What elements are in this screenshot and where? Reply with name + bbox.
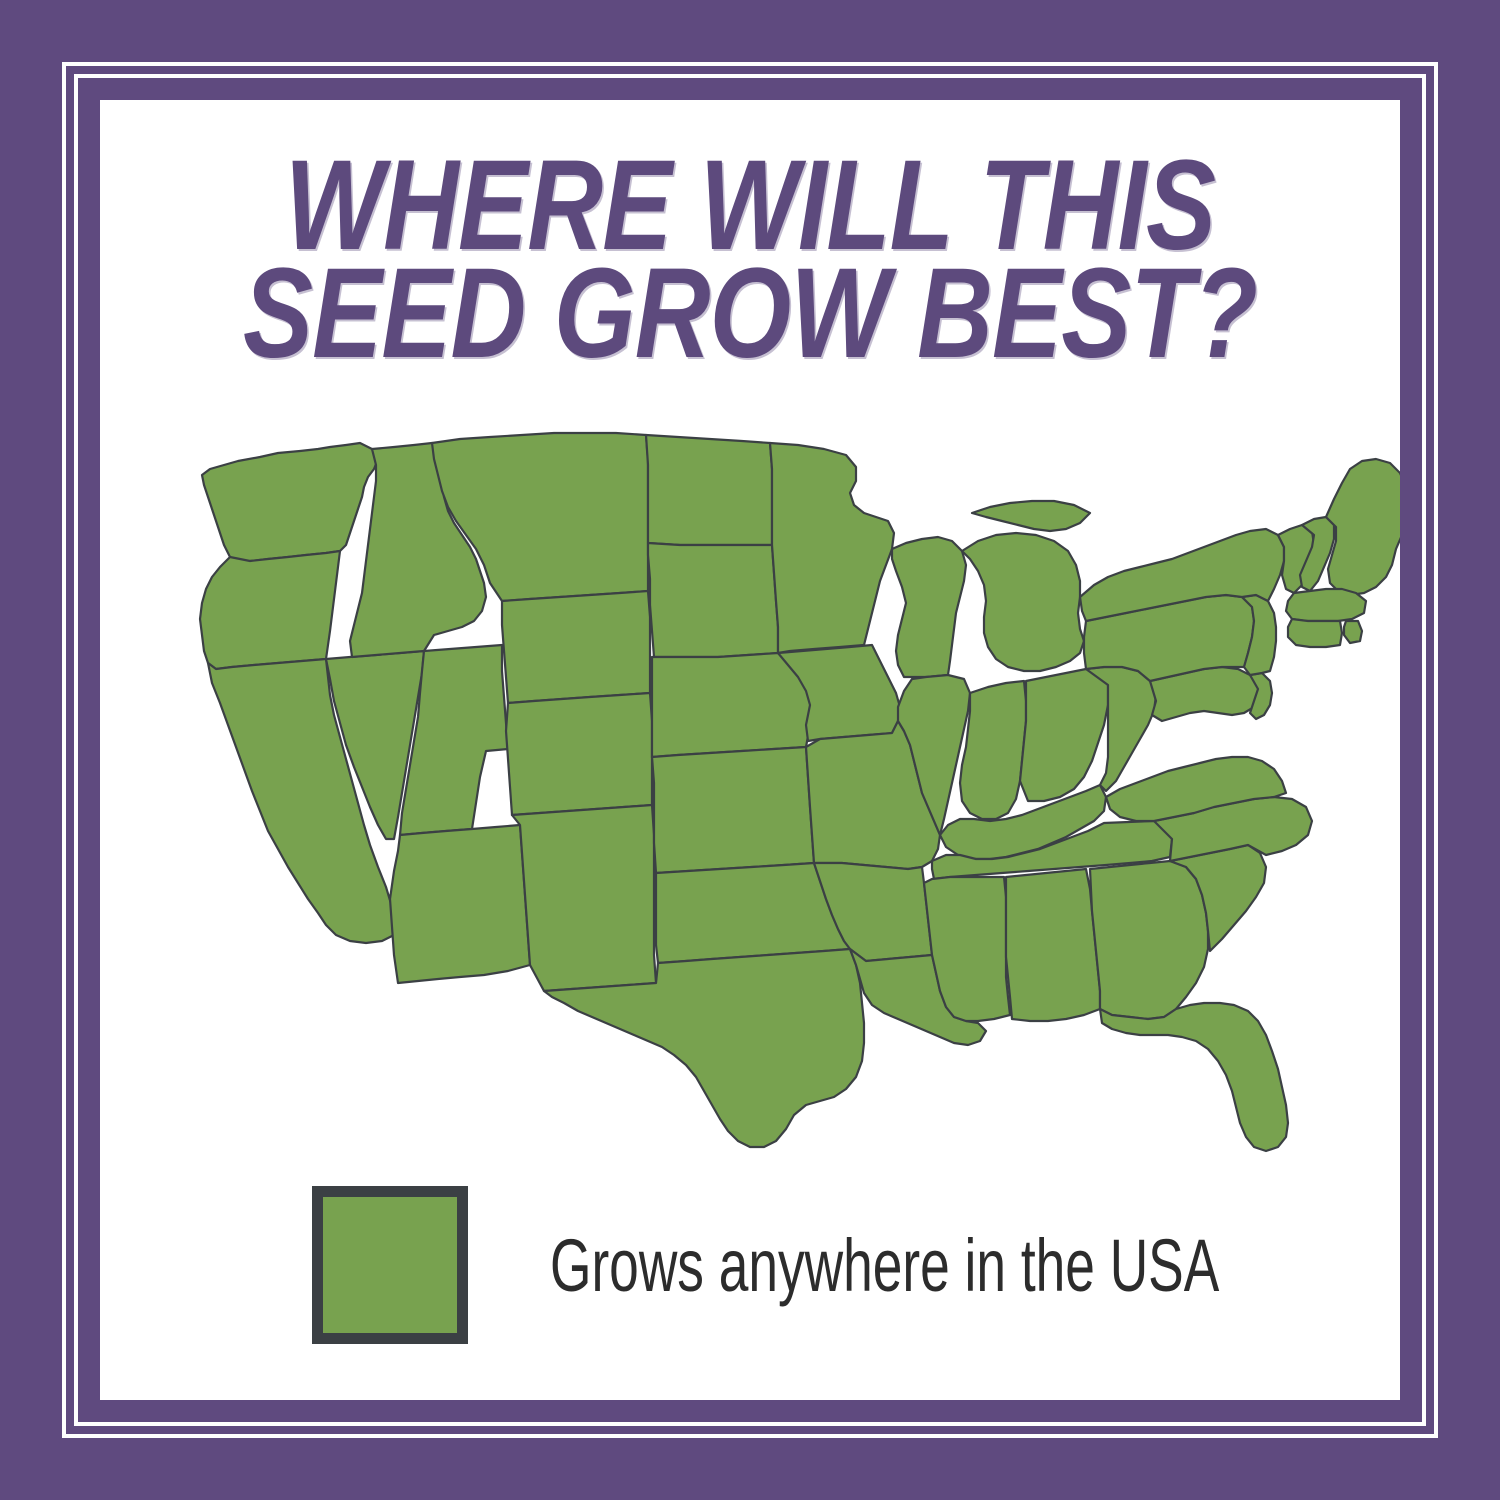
state-arizona[interactable] <box>390 825 530 983</box>
state-north-dakota[interactable] <box>646 435 772 545</box>
state-south-dakota[interactable] <box>648 543 778 657</box>
state-maine[interactable] <box>1326 459 1400 595</box>
state-kansas[interactable] <box>652 747 814 873</box>
state-ohio[interactable] <box>1020 667 1108 801</box>
state-oregon[interactable] <box>200 551 340 669</box>
state-connecticut[interactable] <box>1288 619 1342 647</box>
state-florida[interactable] <box>1100 1003 1288 1151</box>
state-wisconsin[interactable] <box>892 537 966 677</box>
page-title: WHERE WILL THIS SEED GROW BEST? <box>217 152 1283 368</box>
poster-root: WHERE WILL THIS SEED GROW BEST? <box>0 0 1500 1500</box>
state-wyoming[interactable] <box>502 591 650 703</box>
state-massachusetts[interactable] <box>1286 589 1366 621</box>
state-minnesota[interactable] <box>770 443 894 653</box>
state-michigan[interactable] <box>962 501 1090 671</box>
state-indiana[interactable] <box>960 681 1026 819</box>
united-states-map[interactable] <box>150 425 1400 1165</box>
state-rhode-island[interactable] <box>1344 621 1362 643</box>
map-legend: Grows anywhere in the USA <box>312 1186 1480 1344</box>
state-washington[interactable] <box>202 443 378 563</box>
state-alabama[interactable] <box>1006 869 1100 1021</box>
map-container <box>150 425 1400 1165</box>
state-colorado[interactable] <box>506 693 652 815</box>
state-georgia[interactable] <box>1090 861 1208 1019</box>
legend-label: Grows anywhere in the USA <box>550 1223 1219 1308</box>
state-nebraska[interactable] <box>652 653 812 757</box>
state-new-mexico[interactable] <box>512 805 656 991</box>
map-states-group <box>200 433 1400 1151</box>
legend-color-swatch <box>312 1186 468 1344</box>
